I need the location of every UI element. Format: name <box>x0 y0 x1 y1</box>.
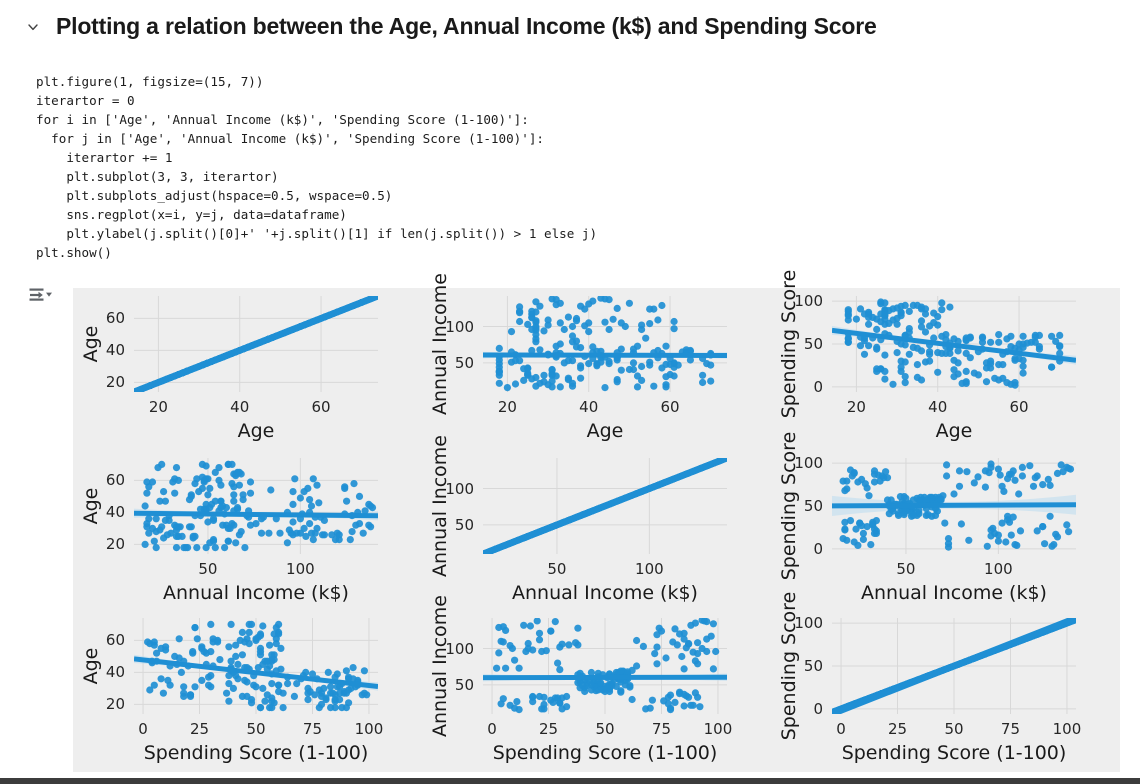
x-axis-label: Annual Income (k$) <box>163 582 349 604</box>
x-tick-label: 0 <box>836 720 846 738</box>
x-tick-label: 75 <box>652 720 671 738</box>
subplot-age-vs-income: 50100204060Annual Income (k$)Age <box>73 450 422 612</box>
y-axis-label: Spending Score <box>778 432 800 581</box>
subplot-income-vs-spending: 025507510050100Spending Score (1-100)Ann… <box>422 610 771 772</box>
y-tick-label: 20 <box>73 535 125 553</box>
y-axis-label: Age <box>80 488 102 525</box>
x-tick-label: 50 <box>246 720 265 738</box>
x-axis-label: Spending Score (1-100) <box>144 742 369 764</box>
x-tick-label: 100 <box>984 560 1013 578</box>
axes-age-vs-income <box>134 458 378 554</box>
x-tick-label: 50 <box>595 720 614 738</box>
x-tick-label: 20 <box>149 398 168 416</box>
scroll-output-toggle-icon[interactable] <box>26 284 56 306</box>
x-axis-label: Annual Income (k$) <box>512 582 698 604</box>
subplot-age-vs-age: 204060204060AgeAge <box>73 288 422 450</box>
subplot-income-vs-age: 20406050100AgeAnnual Income <box>422 288 771 450</box>
x-axis-label: Spending Score (1-100) <box>842 742 1067 764</box>
x-tick-label: 100 <box>635 560 664 578</box>
subplot-spending-vs-spending: 0255075100050100Spending Score (1-100)Sp… <box>771 610 1120 772</box>
y-axis-label: Annual Income <box>429 273 451 415</box>
x-tick-label: 75 <box>303 720 322 738</box>
y-axis-label: Annual Income <box>429 595 451 737</box>
x-axis-label: Age <box>587 420 624 442</box>
x-tick-label: 60 <box>312 398 331 416</box>
axes-income-vs-income <box>483 458 727 554</box>
axes-age-vs-age <box>134 296 378 392</box>
window-bottom-bar <box>0 778 1140 784</box>
subplot-income-vs-income: 5010050100Annual Income (k$)Annual Incom… <box>422 450 771 612</box>
x-tick-label: 50 <box>198 560 217 578</box>
chevron-down-icon[interactable] <box>26 20 40 34</box>
x-tick-label: 25 <box>190 720 209 738</box>
x-tick-label: 20 <box>847 398 866 416</box>
axes-spending-vs-age <box>832 296 1076 392</box>
x-axis-label: Age <box>936 420 973 442</box>
y-axis-label: Annual Income <box>429 435 451 577</box>
x-tick-label: 100 <box>355 720 384 738</box>
x-tick-label: 100 <box>1053 720 1082 738</box>
x-axis-label: Spending Score (1-100) <box>493 742 718 764</box>
cell-output: 204060204060AgeAge20406050100AgeAnnual I… <box>0 278 1140 778</box>
y-axis-label: Age <box>80 326 102 363</box>
subplot-spending-vs-income: 50100050100Annual Income (k$)Spending Sc… <box>771 450 1120 612</box>
axes-income-vs-age <box>483 296 727 392</box>
x-tick-label: 25 <box>539 720 558 738</box>
y-axis-label: Age <box>80 648 102 685</box>
x-tick-label: 25 <box>888 720 907 738</box>
x-tick-label: 20 <box>498 398 517 416</box>
x-tick-label: 40 <box>928 398 947 416</box>
code-cell[interactable]: plt.figure(1, figsize=(15, 7)) iterartor… <box>36 72 1140 262</box>
x-tick-label: 50 <box>896 560 915 578</box>
x-tick-label: 60 <box>661 398 680 416</box>
y-tick-label: 20 <box>73 695 125 713</box>
subplot-spending-vs-age: 204060050100AgeSpending Score <box>771 288 1120 450</box>
x-tick-label: 100 <box>704 720 733 738</box>
section-heading: Plotting a relation between the Age, Ann… <box>0 0 1140 44</box>
y-axis-label: Spending Score <box>778 592 800 741</box>
x-tick-label: 60 <box>1010 398 1029 416</box>
y-tick-label: 20 <box>73 373 125 391</box>
x-axis-label: Age <box>238 420 275 442</box>
x-tick-label: 40 <box>230 398 249 416</box>
matplotlib-figure: 204060204060AgeAge20406050100AgeAnnual I… <box>73 288 1120 772</box>
axes-income-vs-spending <box>483 618 727 714</box>
axes-spending-vs-income <box>832 458 1076 554</box>
x-axis-label: Annual Income (k$) <box>861 582 1047 604</box>
subplot-age-vs-spending: 0255075100204060Spending Score (1-100)Ag… <box>73 610 422 772</box>
x-tick-label: 100 <box>286 560 315 578</box>
x-tick-label: 0 <box>138 720 148 738</box>
axes-age-vs-spending <box>134 618 378 714</box>
x-tick-label: 50 <box>944 720 963 738</box>
axes-spending-vs-spending <box>832 618 1076 714</box>
x-tick-label: 0 <box>487 720 497 738</box>
page-title: Plotting a relation between the Age, Ann… <box>56 12 877 40</box>
x-tick-label: 40 <box>579 398 598 416</box>
y-axis-label: Spending Score <box>778 270 800 419</box>
x-tick-label: 50 <box>547 560 566 578</box>
x-tick-label: 75 <box>1001 720 1020 738</box>
